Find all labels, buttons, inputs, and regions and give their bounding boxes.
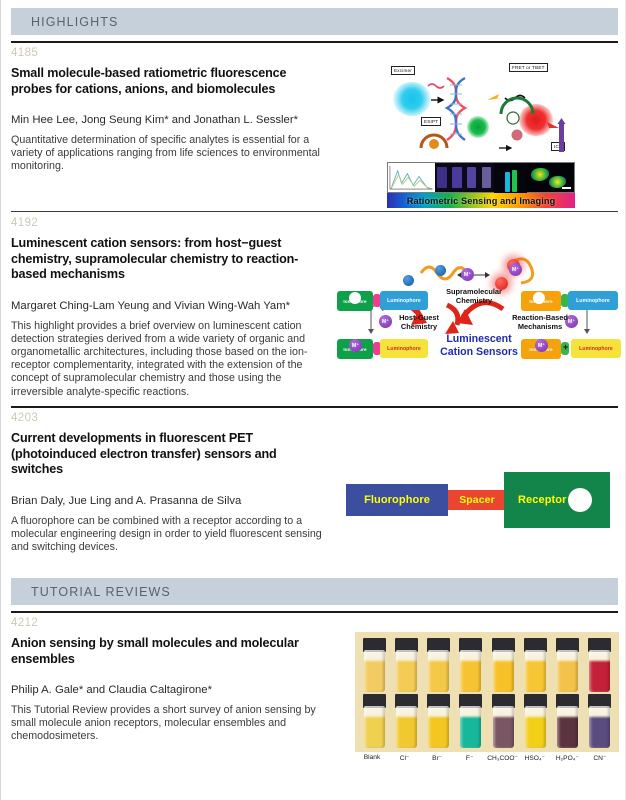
ratiometric-banner: Ratiometric Sensing and Imaging	[387, 193, 575, 208]
divider-rule	[11, 611, 618, 613]
metal-ion-badge: M⁺	[509, 263, 522, 276]
vial-liquid	[557, 706, 578, 748]
article-page-number: 4192	[11, 217, 618, 229]
article-abstract: This highlight provides a brief overview…	[11, 320, 326, 399]
ligand-dot	[435, 265, 446, 276]
metal-ion-badge: M⁺	[535, 339, 548, 352]
vial-liquid	[589, 650, 610, 692]
center-title-line: Cation Sensors	[440, 346, 518, 358]
vial-liquid	[396, 706, 417, 748]
cell-imaging-thumbnail	[527, 163, 574, 192]
figure-anion-vials: BlankCl⁻Br⁻F⁻CH₃COO⁻HSO₄⁻H₂PO₄⁻CN⁻	[355, 632, 619, 780]
vial-liquid	[364, 706, 385, 748]
luminophore-box: Luminophore	[380, 339, 428, 358]
figure-luminescent-cation-sensors: M⁺ M⁺ M⁺ M⁺ Supramolecular Chemistry Hos…	[335, 247, 621, 371]
vial	[361, 638, 388, 692]
vial-liquid	[364, 650, 385, 692]
section-header-highlights: HIGHLIGHTS	[11, 8, 618, 35]
vial-row-top	[361, 638, 613, 692]
article-abstract: Quantitative determination of specific a…	[11, 134, 326, 174]
vial-label: H₂PO₄⁻	[552, 754, 582, 762]
vial-liquid	[557, 650, 578, 692]
vial	[554, 638, 581, 692]
label-reaction-based-mechanisms: Reaction-Based Mechanisms	[497, 313, 583, 331]
ionophore-cavity	[349, 292, 361, 304]
section-header-label: HIGHLIGHTS	[11, 15, 118, 29]
ligand-dot	[403, 275, 414, 286]
label-line: Chemistry	[456, 296, 492, 305]
divider-rule	[11, 406, 618, 408]
divider-rule	[11, 211, 618, 212]
vial-liquid	[493, 706, 514, 748]
vial-label: HSO₄⁻	[520, 754, 550, 762]
cuvette-thumbnail	[494, 163, 527, 195]
article-page-number: 4212	[11, 617, 618, 629]
vial-liquid	[396, 650, 417, 692]
ratiometric-banner-text: Ratiometric Sensing and Imaging	[407, 196, 556, 206]
pet-fluorophore-block: Fluorophore	[346, 484, 448, 516]
vial	[393, 638, 420, 692]
vial	[457, 638, 484, 692]
vial-liquid	[525, 706, 546, 748]
imaging-panel-strip	[387, 162, 575, 193]
vial-label-row: BlankCl⁻Br⁻F⁻CH₃COO⁻HSO₄⁻H₂PO₄⁻CN⁻	[357, 754, 615, 770]
luminophore-box: Luminophore	[568, 291, 618, 310]
fluorescence-bars-thumbnail	[435, 163, 495, 192]
vials-photograph	[355, 632, 619, 752]
vial	[425, 694, 452, 748]
vial-label: CH₃COO⁻	[487, 754, 517, 762]
vial	[522, 694, 549, 748]
luminophore-box: Luminophore	[380, 291, 428, 310]
vial-liquid	[428, 650, 449, 692]
vial	[554, 694, 581, 748]
article-title[interactable]: Anion sensing by small molecules and mol…	[11, 636, 321, 667]
divider-rule	[11, 41, 618, 43]
vial	[361, 694, 388, 748]
figure-ratiometric-sensing: Excimer FRET or TBET ESIPT ICT	[387, 60, 575, 208]
section-header-label: TUTORIAL REVIEWS	[11, 585, 171, 599]
figure-pet-schematic: Spacer Fluorophore Receptor	[346, 470, 610, 530]
vial	[586, 694, 613, 748]
label-line: Supramolecular	[446, 287, 502, 296]
ionophore-cavity	[533, 292, 545, 304]
label-line: Host-Guest	[399, 313, 439, 322]
article-authors: Brian Daly, Jue Ling and A. Prasanna de …	[11, 494, 331, 508]
label-line: Mechanisms	[518, 322, 562, 331]
figure-schematic-arrows	[387, 60, 575, 162]
vial-liquid	[525, 650, 546, 692]
vial	[457, 694, 484, 748]
article-authors: Margaret Ching-Lam Yeung and Vivian Wing…	[11, 299, 331, 313]
center-title-line: Luminescent	[446, 333, 511, 345]
journal-contents-page: HIGHLIGHTS 4185 Small molecule-based rat…	[1, 0, 626, 800]
vial-row-bottom	[361, 694, 613, 748]
label-line: Reaction-Based	[512, 313, 568, 322]
vial	[522, 638, 549, 692]
label-line: Chemistry	[401, 322, 437, 331]
article-abstract: A fluorophore can be combined with a rec…	[11, 515, 326, 555]
label-host-guest-chemistry: Host-Guest Chemistry	[388, 313, 450, 331]
vial	[586, 638, 613, 692]
vial-liquid	[589, 706, 610, 748]
vial-liquid	[460, 706, 481, 748]
article-authors: Philip A. Gale* and Claudia Caltagirone*	[11, 683, 331, 697]
vial-label: CN⁻	[585, 754, 615, 762]
article-authors: Min Hee Lee, Jong Seung Kim* and Jonatha…	[11, 113, 331, 127]
vial-liquid	[493, 650, 514, 692]
figure-center-title: Luminescent Cation Sensors	[433, 333, 525, 358]
vial-label: F⁻	[455, 754, 485, 762]
vial	[425, 638, 452, 692]
vial	[393, 694, 420, 748]
figure-top-panel: Excimer FRET or TBET ESIPT ICT	[387, 60, 575, 162]
article-page-number: 4203	[11, 412, 618, 424]
vial-label: Cl⁻	[390, 754, 420, 762]
vial	[490, 694, 517, 748]
spectrum-thumbnail	[388, 163, 435, 192]
vial	[490, 638, 517, 692]
article-title[interactable]: Current developments in fluorescent PET …	[11, 431, 321, 478]
vial-label: Br⁻	[422, 754, 452, 762]
luminophore-box: Luminophore	[571, 339, 621, 358]
article-title[interactable]: Small molecule-based ratiometric fluores…	[11, 66, 321, 97]
vial-liquid	[428, 706, 449, 748]
metal-ion-badge: M⁺	[461, 268, 474, 281]
vial-liquid	[460, 650, 481, 692]
plus-sign: +	[563, 342, 568, 352]
pet-receptor-block: Receptor	[504, 472, 610, 528]
article-title[interactable]: Luminescent cation sensors: from host−gu…	[11, 236, 321, 283]
article-abstract: This Tutorial Review provides a short su…	[11, 704, 326, 744]
pet-receptor-cavity	[568, 488, 592, 512]
pet-spacer-block: Spacer	[446, 490, 508, 510]
vial-label: Blank	[357, 754, 387, 761]
section-header-tutorial-reviews: TUTORIAL REVIEWS	[11, 578, 618, 605]
label-supramolecular-chemistry: Supramolecular Chemistry	[439, 287, 509, 305]
article-page-number: 4185	[11, 47, 618, 59]
metal-ion-badge: M⁺	[349, 339, 362, 352]
